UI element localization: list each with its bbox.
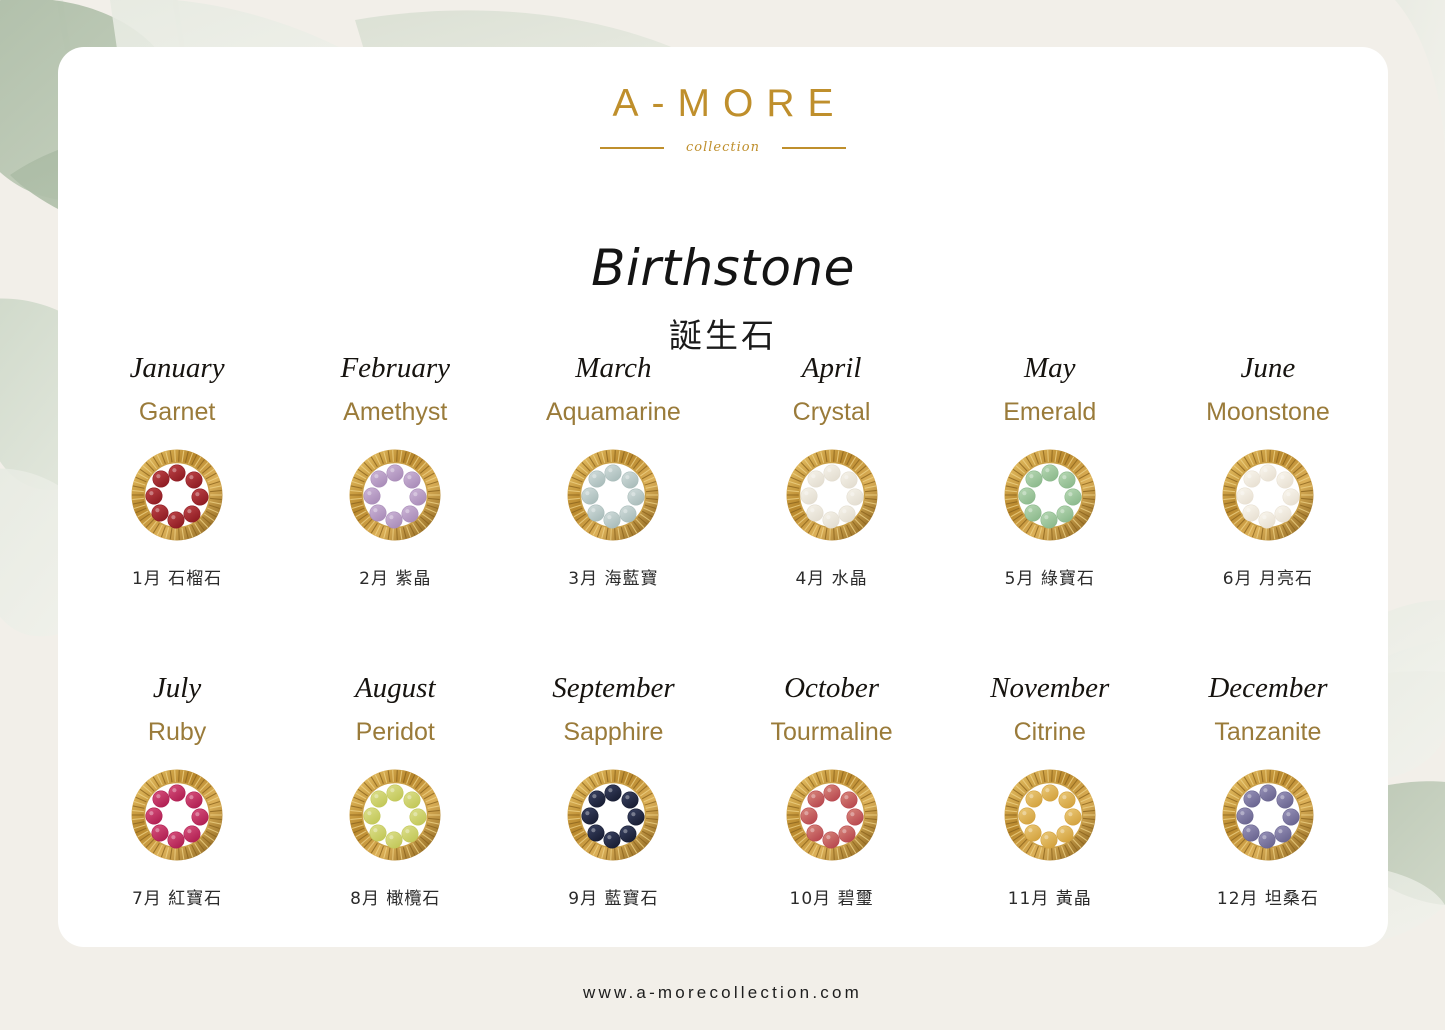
- crystal-charm-icon: [784, 447, 880, 543]
- month-caption-zh: 1月 石榴石: [132, 564, 222, 589]
- month-name: September: [552, 674, 674, 703]
- website-url: www.a-morecollection.com: [0, 983, 1445, 1003]
- month-caption-zh: 3月 海藍寶: [568, 564, 658, 589]
- page-title: Birthstone: [58, 239, 1388, 297]
- month-name: July: [153, 674, 201, 703]
- birthstone-card-august[interactable]: AugustPeridot8月 橄欖石: [286, 630, 504, 950]
- month-caption-zh: 7月 紅寶石: [132, 884, 222, 909]
- stone-name: Garnet: [139, 400, 215, 425]
- month-name: August: [355, 674, 436, 703]
- birthstone-card-june[interactable]: JuneMoonstone6月 月亮石: [1159, 310, 1377, 630]
- birthstone-card-may[interactable]: MayEmerald5月 綠寶石: [941, 310, 1159, 630]
- stone-name: Crystal: [793, 400, 871, 425]
- month-caption-zh: 2月 紫晶: [359, 564, 431, 589]
- month-caption-zh: 6月 月亮石: [1223, 564, 1313, 589]
- month-caption-zh: 11月 黃晶: [1008, 884, 1092, 909]
- month-caption-zh: 5月 綠寶石: [1005, 564, 1095, 589]
- month-name: October: [784, 674, 879, 703]
- tourmaline-charm-icon: [784, 767, 880, 863]
- stone-name: Moonstone: [1206, 400, 1330, 425]
- stone-name: Aquamarine: [546, 400, 681, 425]
- stone-name: Sapphire: [563, 720, 663, 745]
- month-caption-zh: 12月 坦桑石: [1217, 884, 1319, 909]
- tanzanite-charm-icon: [1220, 767, 1316, 863]
- aquamarine-charm-icon: [565, 447, 661, 543]
- month-caption-zh: 4月 水晶: [795, 564, 867, 589]
- stone-name: Ruby: [148, 720, 206, 745]
- birthstone-card-september[interactable]: SeptemberSapphire9月 藍寶石: [504, 630, 722, 950]
- month-name: March: [575, 354, 651, 383]
- garnet-charm-icon: [129, 447, 225, 543]
- birthstone-card-december[interactable]: DecemberTanzanite12月 坦桑石: [1159, 630, 1377, 950]
- month-name: June: [1241, 354, 1296, 383]
- birthstone-card-january[interactable]: JanuaryGarnet1月 石榴石: [68, 310, 286, 630]
- month-name: April: [802, 354, 862, 383]
- month-caption-zh: 10月 碧璽: [790, 884, 874, 909]
- stone-name: Tanzanite: [1214, 720, 1321, 745]
- month-name: December: [1208, 674, 1327, 703]
- stone-name: Peridot: [356, 720, 435, 745]
- divider-line-right: [782, 147, 846, 149]
- birthstone-card-february[interactable]: FebruaryAmethyst2月 紫晶: [286, 310, 504, 630]
- month-caption-zh: 8月 橄欖石: [350, 884, 440, 909]
- month-name: February: [340, 354, 450, 383]
- month-caption-zh: 9月 藍寶石: [568, 884, 658, 909]
- sapphire-charm-icon: [565, 767, 661, 863]
- birthstone-card-november[interactable]: NovemberCitrine11月 黃晶: [941, 630, 1159, 950]
- month-name: January: [130, 354, 225, 383]
- brand-tagline: collection: [686, 140, 760, 155]
- brand-logo: A-MORE collection: [58, 82, 1388, 155]
- ruby-charm-icon: [129, 767, 225, 863]
- brand-tagline-row: collection: [58, 140, 1388, 155]
- divider-line-left: [600, 147, 664, 149]
- stone-name: Emerald: [1003, 400, 1096, 425]
- moonstone-charm-icon: [1220, 447, 1316, 543]
- month-name: November: [990, 674, 1109, 703]
- brand-name: A-MORE: [58, 82, 1388, 126]
- birthstone-card-march[interactable]: MarchAquamarine3月 海藍寶: [504, 310, 722, 630]
- birthstone-card-october[interactable]: OctoberTourmaline10月 碧璽: [723, 630, 941, 950]
- amethyst-charm-icon: [347, 447, 443, 543]
- birthstone-card-april[interactable]: AprilCrystal4月 水晶: [723, 310, 941, 630]
- emerald-charm-icon: [1002, 447, 1098, 543]
- stone-name: Tourmaline: [770, 720, 892, 745]
- peridot-charm-icon: [347, 767, 443, 863]
- birthstone-card-july[interactable]: JulyRuby7月 紅寶石: [68, 630, 286, 950]
- citrine-charm-icon: [1002, 767, 1098, 863]
- month-name: May: [1024, 354, 1076, 383]
- stone-name: Citrine: [1014, 720, 1086, 745]
- birthstone-grid: JanuaryGarnet1月 石榴石FebruaryAmethyst2月 紫晶…: [68, 310, 1377, 950]
- stone-name: Amethyst: [343, 400, 447, 425]
